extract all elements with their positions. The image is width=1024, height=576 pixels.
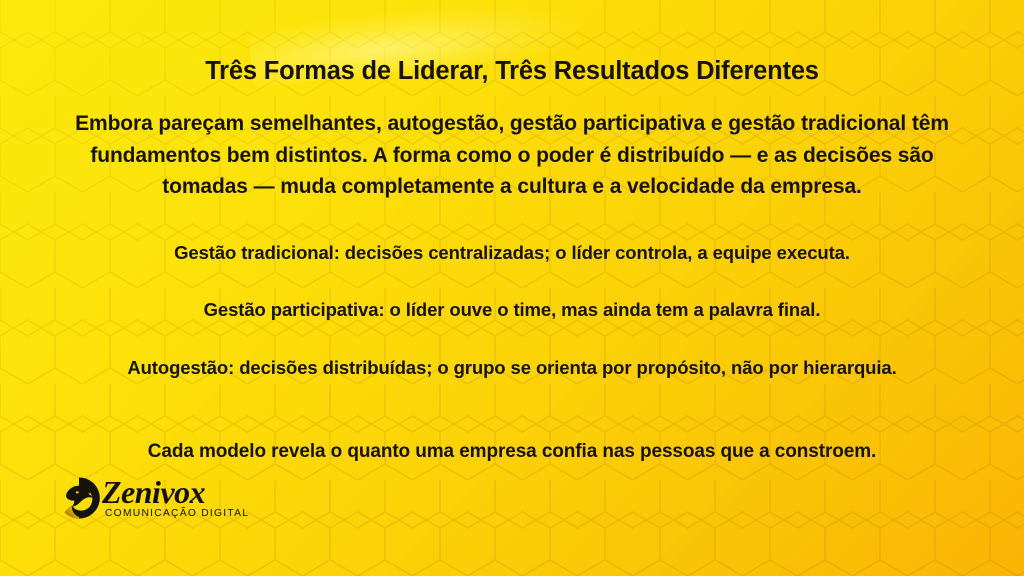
point-traditional-management: Gestão tradicional: decisões centralizad…: [0, 238, 1024, 268]
wolf-head-badge-icon: [57, 476, 103, 520]
brand-logo: Zenivox COMUNICAÇÃO DIGITAL: [57, 475, 249, 520]
logo-tagline: COMUNICAÇÃO DIGITAL: [105, 508, 249, 520]
slide-closing-statement: Cada modelo revela o quanto uma empresa …: [0, 438, 1024, 466]
logo-wordmark: Zenivox: [102, 477, 249, 507]
point-self-management: Autogestão: decisões distribuídas; o gru…: [0, 353, 1024, 383]
slide-canvas: Três Formas de Liderar, Três Resultados …: [0, 0, 1024, 576]
point-participative-management: Gestão participativa: o líder ouve o tim…: [0, 295, 1024, 325]
slide-title: Três Formas de Liderar, Três Resultados …: [0, 56, 1024, 86]
slide-intro-paragraph: Embora pareçam semelhantes, autogestão, …: [0, 108, 1024, 203]
logo-text-block: Zenivox COMUNICAÇÃO DIGITAL: [104, 477, 249, 520]
